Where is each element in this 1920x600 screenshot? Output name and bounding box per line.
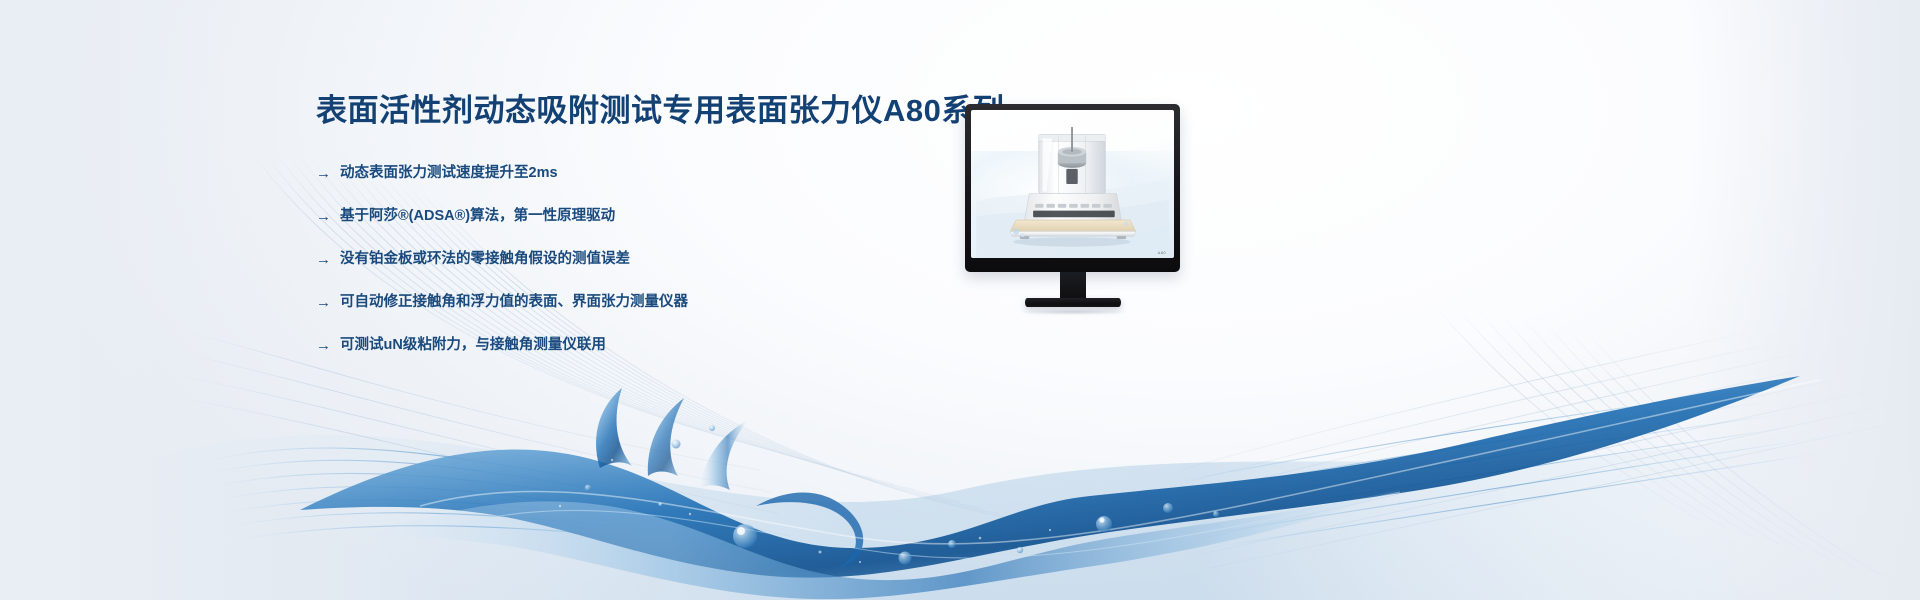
monitor-display: A80 [965, 104, 1180, 316]
list-item: → 可测试uN级粘附力，与接触角测量仪联用 [316, 337, 976, 355]
product-banner: 表面活性剂动态吸附测试专用表面张力仪A80系列 → 动态表面张力测试速度提升至2… [0, 0, 1920, 600]
page-title: 表面活性剂动态吸附测试专用表面张力仪A80系列 [316, 92, 976, 131]
monitor-stand-shadow [998, 308, 1148, 316]
feature-text: 基于阿莎®(ADSA®)算法，第一性原理驱动 [340, 208, 615, 225]
list-item: → 没有铂金板或环法的零接触角假设的测值误差 [316, 251, 976, 269]
right-edge-gradient [1690, 0, 1920, 600]
tensiometer-instrument-icon [971, 110, 1174, 258]
left-edge-gradient [0, 0, 230, 600]
list-item: → 动态表面张力测试速度提升至2ms [316, 165, 976, 183]
arrow-right-icon: → [316, 208, 331, 226]
monitor-stand [1025, 298, 1121, 307]
screen-brandmark: A80 [1158, 250, 1166, 255]
feature-text: 动态表面张力测试速度提升至2ms [340, 165, 558, 182]
feature-text: 没有铂金板或环法的零接触角假设的测值误差 [340, 251, 630, 268]
list-item: → 可自动修正接触角和浮力值的表面、界面张力测量仪器 [316, 294, 976, 312]
arrow-right-icon: → [316, 165, 331, 183]
monitor-neck [1060, 272, 1086, 298]
feature-list: → 动态表面张力测试速度提升至2ms → 基于阿莎®(ADSA®)算法，第一性原… [316, 165, 976, 355]
monitor-bezel: A80 [965, 104, 1180, 272]
arrow-right-icon: → [316, 251, 331, 269]
arrow-right-icon: → [316, 337, 331, 355]
monitor-screen: A80 [971, 110, 1174, 258]
banner-content: 表面活性剂动态吸附测试专用表面张力仪A80系列 → 动态表面张力测试速度提升至2… [316, 92, 976, 355]
feature-text: 可自动修正接触角和浮力值的表面、界面张力测量仪器 [340, 294, 688, 311]
arrow-right-icon: → [316, 294, 331, 312]
feature-text: 可测试uN级粘附力，与接触角测量仪联用 [340, 337, 606, 354]
list-item: → 基于阿莎®(ADSA®)算法，第一性原理驱动 [316, 208, 976, 226]
